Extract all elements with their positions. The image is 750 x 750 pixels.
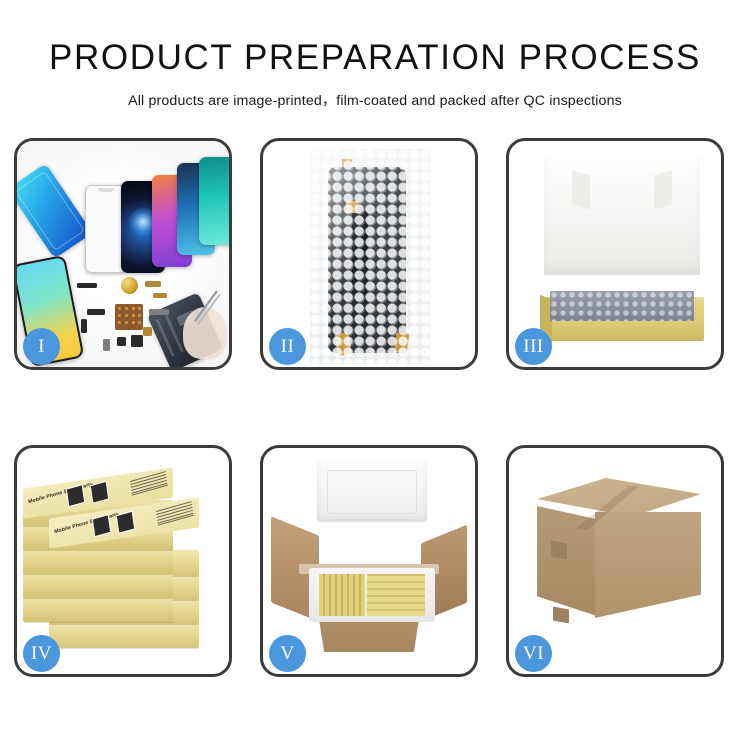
tweezers-icon (183, 289, 223, 329)
stack-box (23, 572, 173, 598)
circuit-board-icon (115, 304, 143, 330)
packed-boxes (319, 574, 425, 616)
lid-flap-left (572, 170, 590, 209)
box-spec-lines (130, 471, 168, 498)
gold-flex-icon (145, 281, 161, 287)
gold-flex-icon-2 (153, 293, 167, 298)
process-step-1: I (14, 138, 232, 370)
packed-boxes-right (367, 574, 425, 616)
gold-screw-icon (143, 327, 152, 336)
gold-coil-icon (121, 277, 138, 294)
carton-tape-upper (551, 541, 567, 560)
step-badge-4: IV (23, 635, 60, 672)
box-lid (544, 157, 700, 275)
process-step-grid: I II (14, 138, 736, 677)
step-badge-5: V (269, 635, 306, 672)
step-badge-3: III (515, 328, 552, 365)
box-product-image (92, 514, 111, 537)
box-product-image (66, 484, 85, 507)
process-step-2: II (260, 138, 478, 370)
step-badge-2: II (269, 328, 306, 365)
sim-tray-icon (103, 339, 110, 351)
process-step-3: III (506, 138, 724, 370)
small-chip-icon (87, 309, 105, 315)
carton-front-face (595, 512, 701, 618)
box-product-image-2 (90, 481, 109, 504)
connector-icon (77, 283, 97, 288)
page-subtitle: All products are image-printed，film-coat… (0, 90, 750, 110)
process-step-6: VI (506, 445, 724, 677)
small-chip-icon-2 (81, 319, 87, 333)
stack-box (23, 548, 173, 574)
bubble-wrap-contents (550, 291, 694, 321)
page-title: PRODUCT PREPARATION PROCESS (0, 38, 750, 78)
teal-screen-icon (199, 157, 232, 245)
button-icon (117, 337, 126, 346)
packed-boxes-left (319, 574, 365, 616)
box-product-image-2 (116, 511, 135, 534)
stack-box (49, 622, 199, 648)
box-spec-lines (156, 501, 194, 528)
plastic-sheen (310, 149, 430, 365)
step-badge-6: VI (515, 635, 552, 672)
product-preparation-process-page: PRODUCT PREPARATION PROCESS All products… (0, 0, 750, 750)
foam-lid (317, 460, 427, 522)
camera-module-icon (131, 335, 143, 347)
metal-bracket-icon (149, 309, 169, 315)
process-step-5: V (260, 445, 478, 677)
page-header: PRODUCT PREPARATION PROCESS All products… (0, 0, 750, 110)
box-stack: Mobile Phone Spare Parts Mobile Phone Sp… (23, 472, 223, 660)
carton-tape-lower (553, 607, 569, 624)
stack-box (23, 596, 173, 622)
process-step-4: Mobile Phone Spare Parts Mobile Phone Sp… (14, 445, 232, 677)
step-badge-1: I (23, 328, 60, 365)
bubble-wrap-bag (310, 149, 430, 365)
lid-flap-right (654, 170, 672, 209)
